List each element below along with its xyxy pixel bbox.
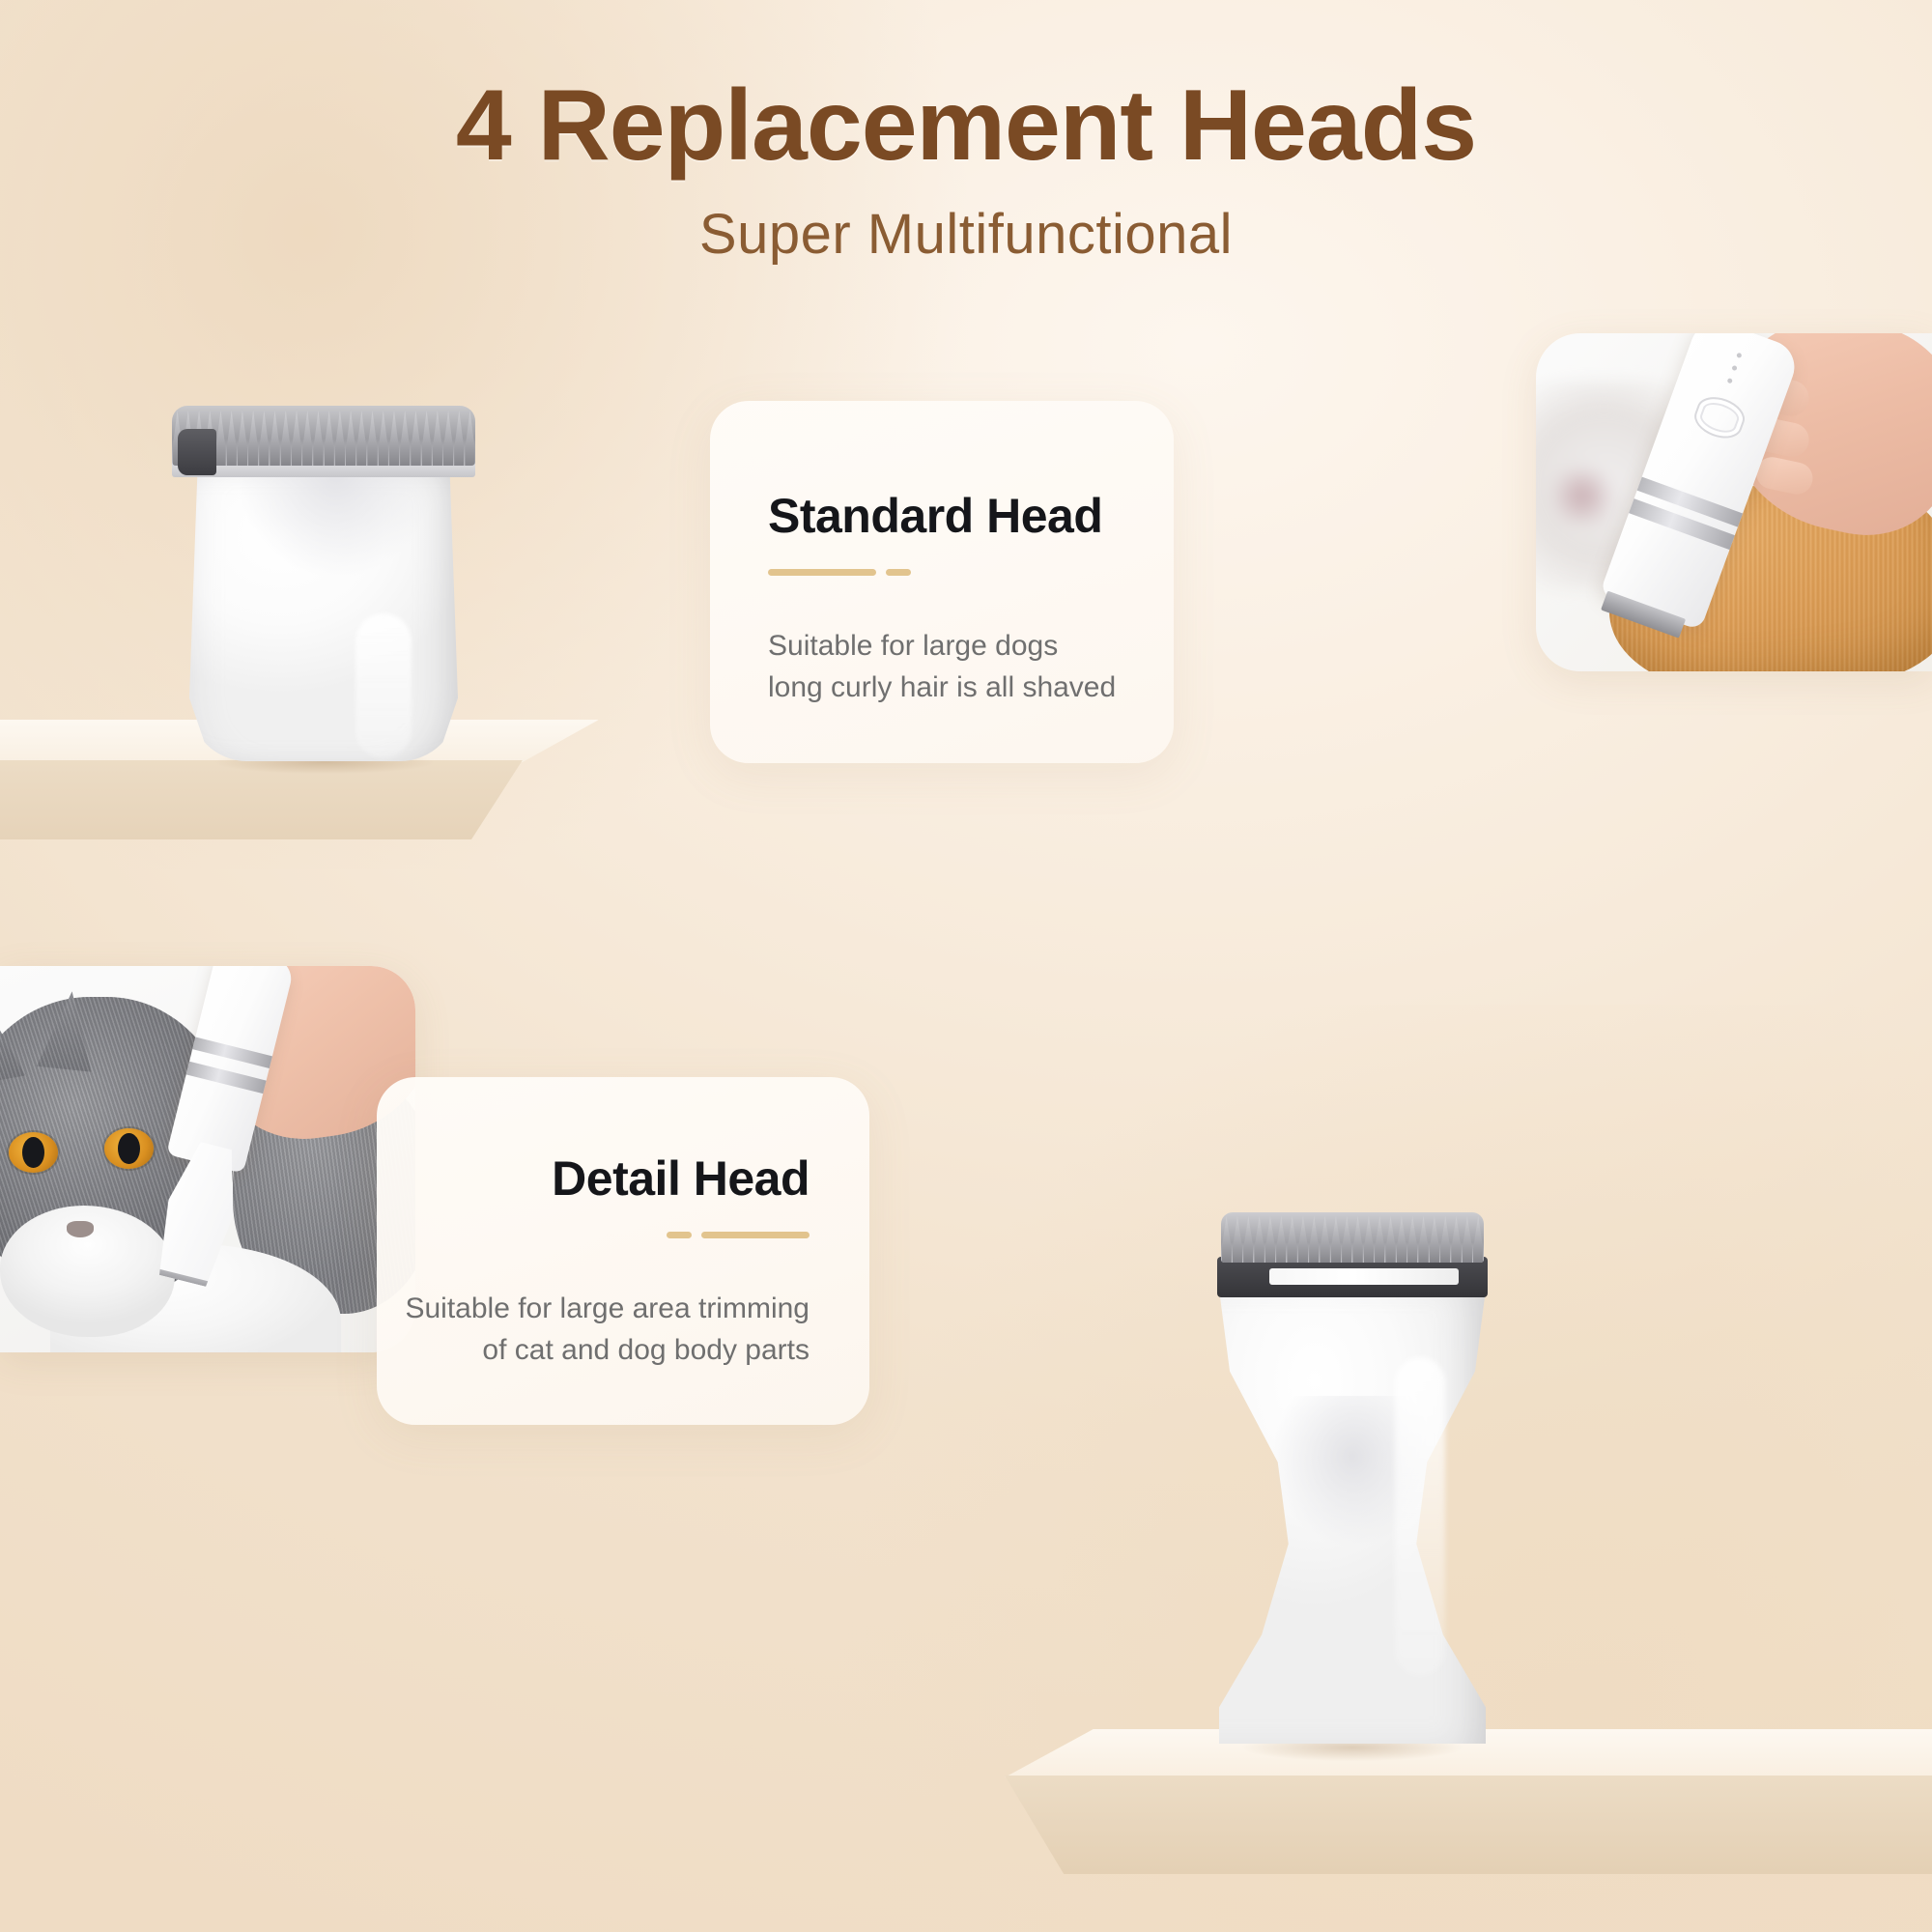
blade-plate-strip [1269,1268,1459,1285]
divider-dash-long [701,1232,810,1238]
indicator-dots-icon [1723,344,1745,392]
description-line: Suitable for large area trimming [377,1289,810,1330]
metal-ring [186,1062,267,1094]
power-button-icon [1690,390,1749,443]
description-line: long curly hair is all shaved [768,668,1174,709]
detail-head-heading: Detail Head [377,1152,810,1206]
clipper-blade-teeth [172,406,475,466]
header: 4 Replacement Heads Super Multifunctiona… [0,0,1932,267]
blade-teeth-row [1221,1212,1484,1263]
divider-dash-long [768,569,876,576]
clipper-blade-teeth [1221,1212,1484,1263]
description-line: of cat and dog body parts [377,1330,810,1372]
description-line: Suitable for large dogs [768,626,1174,668]
standard-head-description: Suitable for large dogs long curly hair … [768,626,1174,708]
card-divider [768,568,1174,576]
cat-nose [67,1221,94,1237]
detail-head-description: Suitable for large area trimming of cat … [377,1289,810,1371]
standard-head-clipper [164,406,483,763]
blade-teeth-row [172,406,475,466]
cat-grooming-photo [0,966,415,1352]
cat-eye-right [104,1128,155,1169]
divider-dash-short [667,1232,692,1238]
detail-head-clipper [1198,1212,1507,1792]
card-divider [377,1231,810,1238]
clipper-blade-plate [1217,1257,1488,1297]
cat-eye-left [9,1132,59,1173]
standard-head-heading: Standard Head [768,490,1174,543]
clipper-highlight [1395,1357,1445,1676]
infographic-stage: 4 Replacement Heads Super Multifunctiona… [0,0,1932,1932]
dog-grooming-photo [1536,333,1932,671]
divider-dash-short [886,569,911,576]
page-title: 4 Replacement Heads [0,73,1932,179]
standard-head-card: Standard Head Suitable for large dogs lo… [710,401,1174,763]
detail-head-card: Detail Head Suitable for large area trim… [377,1077,869,1425]
blade-side-lug [178,429,216,475]
metal-ring [192,1037,272,1068]
finger [1753,454,1816,497]
clipper-highlight [355,613,412,758]
page-subtitle: Super Multifunctional [0,202,1932,267]
